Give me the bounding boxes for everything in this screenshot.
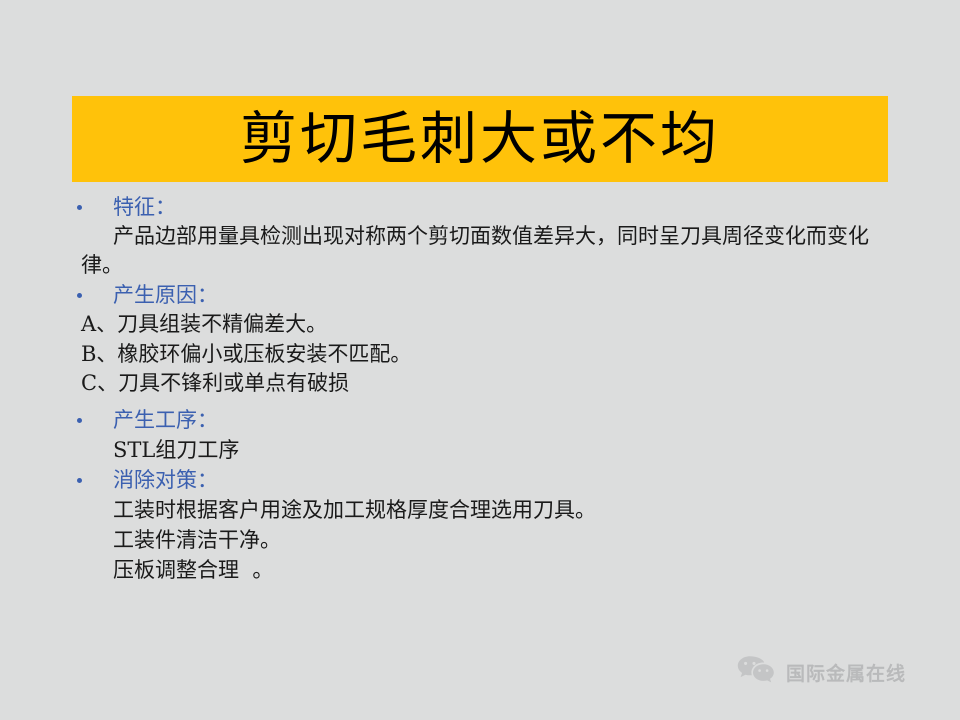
cause-item-a: A、刀具组装不精偏差大。: [72, 310, 892, 340]
section-heading-characteristics: 特征：: [72, 193, 892, 222]
section-heading-process: 产生工序：: [72, 406, 892, 435]
section-countermeasures: 消除对策： 工装时根据客户用途及加工规格厚度合理选用刀具。 工装件清洁干净。 压…: [72, 466, 892, 585]
spacer: [72, 399, 892, 406]
countermeasure-item-2: 工装件清洁干净。: [72, 525, 892, 555]
bullet-dot-icon: [77, 293, 82, 298]
section-heading-label: 消除对策：: [113, 468, 218, 492]
page-title: 剪切毛刺大或不均: [240, 111, 720, 168]
watermark-label: 国际金属在线: [786, 659, 906, 686]
countermeasure-item-1: 工装时根据客户用途及加工规格厚度合理选用刀具。: [72, 495, 892, 525]
section-heading-label: 产生原因：: [113, 283, 218, 307]
countermeasure-item-3: 压板调整合理 。: [72, 555, 892, 585]
process-detail: STL组刀工序: [72, 435, 892, 465]
section-process: 产生工序： STL组刀工序: [72, 406, 892, 465]
section-heading-causes: 产生原因：: [72, 281, 892, 310]
characteristics-paragraph: 产品边部用量具检测出现对称两个剪切面数值差异大，同时呈刀具周径变化而变化律。: [72, 222, 893, 280]
cause-item-c: C、刀具不锋利或单点有破损: [72, 369, 892, 399]
section-heading-label: 产生工序：: [113, 408, 218, 432]
watermark: 国际金属在线: [737, 655, 906, 689]
section-characteristics: 特征： 产品边部用量具检测出现对称两个剪切面数值差异大，同时呈刀具周径变化而变化…: [72, 193, 892, 280]
bullet-dot-icon: [77, 478, 82, 483]
section-causes: 产生原因： A、刀具组装不精偏差大。 B、橡胶环偏小或压板安装不匹配。 C、刀具…: [72, 281, 892, 399]
slide-canvas: 剪切毛刺大或不均 特征： 产品边部用量具检测出现对称两个剪切面数值差异大，同时呈…: [0, 0, 960, 720]
title-banner: 剪切毛刺大或不均: [72, 96, 888, 182]
wechat-icon: [737, 655, 777, 689]
cause-item-b: B、橡胶环偏小或压板安装不匹配。: [72, 340, 892, 370]
section-heading-label: 特征：: [113, 195, 176, 219]
bullet-dot-icon: [77, 418, 82, 423]
slide-body: 特征： 产品边部用量具检测出现对称两个剪切面数值差异大，同时呈刀具周径变化而变化…: [72, 193, 892, 585]
bullet-dot-icon: [77, 205, 82, 210]
section-heading-countermeasures: 消除对策：: [72, 466, 892, 495]
